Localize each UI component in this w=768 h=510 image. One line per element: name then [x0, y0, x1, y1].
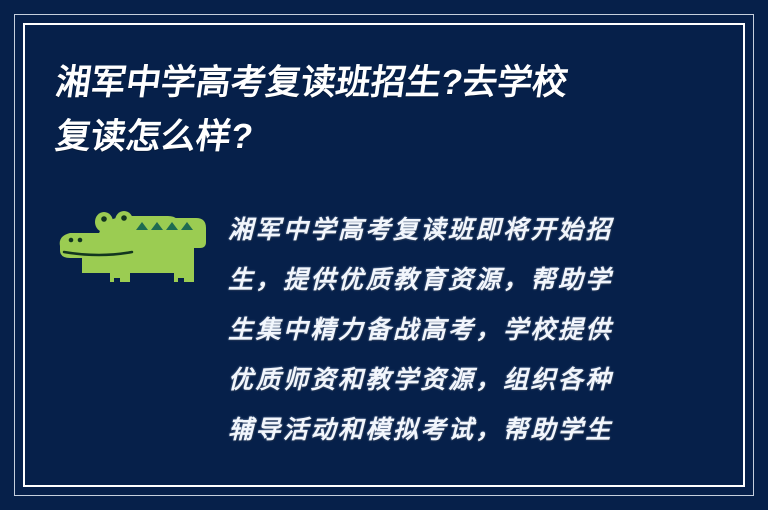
body-text-line: 湘军中学高考复读班即将开始招: [228, 206, 646, 256]
page-title-line-2: 复读怎么样?: [52, 110, 680, 164]
body-text-line: 生集中精力备战高考，学校提供: [228, 306, 646, 356]
body-text-line: 辅导活动和模拟考试，帮助学生: [228, 406, 646, 456]
page-title: 湘军中学高考复读班招生?去学校 复读怎么样?: [56, 56, 676, 164]
body-text: 湘军中学高考复读班即将开始招 生，提供优质教育资源，帮助学 生集中精力备战高考，…: [228, 206, 646, 456]
page-title-line-1: 湘军中学高考复读班招生?去学校: [52, 56, 680, 110]
body-text-line: 生，提供优质教育资源，帮助学: [228, 256, 646, 306]
promo-card: 湘军中学高考复读班招生?去学校 复读怎么样?: [0, 0, 768, 510]
crocodile-icon: [52, 196, 212, 296]
body-text-line: 优质师资和教学资源，组织各种: [228, 356, 646, 406]
